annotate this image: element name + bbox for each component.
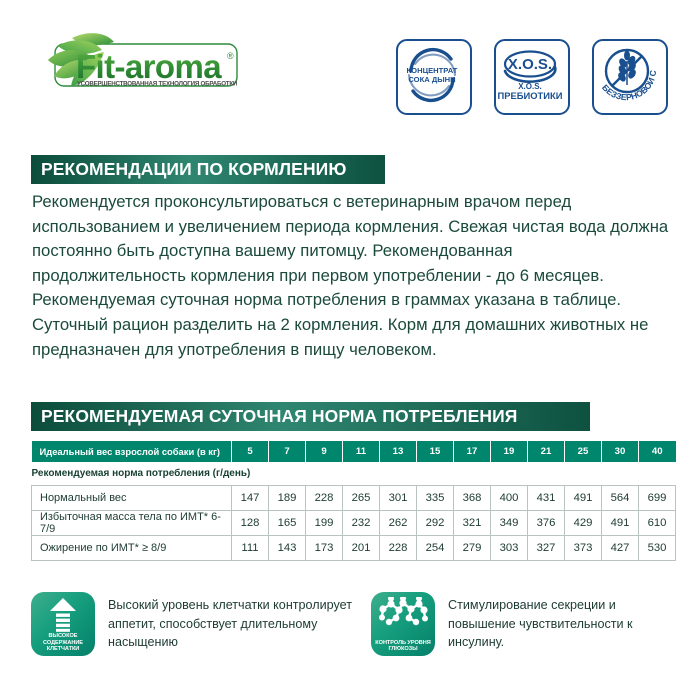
table-cell: 189	[269, 486, 306, 511]
table-header-weight: 19	[491, 441, 528, 462]
table-header-weight: 5	[232, 441, 269, 462]
table-cell: 491	[565, 486, 602, 511]
table-row: Нормальный вес14718922826530133536840043…	[32, 486, 676, 511]
table-cell: 165	[269, 511, 306, 536]
table-cell: 376	[528, 511, 565, 536]
table-header-weight: 21	[528, 441, 565, 462]
table-cell: 321	[454, 511, 491, 536]
daily-norm-table-wrapper: Идеальный вес взрослой собаки (в кг)5791…	[31, 441, 675, 561]
badge-grain-free: БЕЗЗЕРНОВОЙ СОСТАВ	[592, 39, 668, 115]
melon-juice-concentrate-icon: КОНЦЕНТРАТ СОКА ДЫНИ	[398, 41, 466, 109]
table-cell: 335	[417, 486, 454, 511]
feature-badges: КОНЦЕНТРАТ СОКА ДЫНИ X.O.S. X.O.S. ПРЕБИ…	[396, 39, 668, 115]
daily-norm-table: Идеальный вес взрослой собаки (в кг)5791…	[31, 441, 676, 561]
table-header-weight: 13	[380, 441, 417, 462]
logo-graphic: Fit-aroma ® УСОВЕРШЕНСТВОВАННАЯ ТЕХНОЛОГ…	[28, 26, 243, 102]
table-cell: 431	[528, 486, 565, 511]
feature-blocks: ВЫСОКОЕ СОДЕРЖАНИЕ КЛЕТЧАТКИ Высокий уро…	[31, 592, 679, 656]
table-header-label: Идеальный вес взрослой собаки (в кг)	[32, 441, 232, 462]
table-cell: 373	[565, 536, 602, 561]
badge-xos-prebiotics: X.O.S. X.O.S. ПРЕБИОТИКИ	[494, 39, 570, 115]
daily-norm-heading-text: РЕКОМЕНДУЕМАЯ СУТОЧНАЯ НОРМА ПОТРЕБЛЕНИЯ	[41, 408, 517, 426]
table-header-weight: 17	[454, 441, 491, 462]
caption-line-1: ВЫСОКОЕ	[33, 633, 93, 640]
caption-line-3: КЛЕТЧАТКИ	[33, 646, 93, 653]
badge-melon-juice-concentrate: КОНЦЕНТРАТ СОКА ДЫНИ	[396, 39, 472, 115]
table-cell: 491	[602, 511, 639, 536]
high-fiber-description: Высокий уровень клетчатки контролирует а…	[108, 592, 371, 652]
feeding-section-heading: РЕКОМЕНДАЦИИ ПО КОРМЛЕНИЮ	[31, 155, 385, 184]
svg-text:Fit-aroma: Fit-aroma	[76, 48, 222, 85]
table-caption-row: Рекомендуемая норма потребления (г/день)	[32, 462, 676, 486]
feeding-body-text: Рекомендуется проконсультироваться с вет…	[32, 190, 670, 362]
svg-text:СОКА ДЫНИ: СОКА ДЫНИ	[408, 75, 455, 84]
table-cell: 368	[454, 486, 491, 511]
table-cell: 262	[380, 511, 417, 536]
arrow-up-stack-glyph	[31, 597, 95, 633]
glucose-control-description: Стимулирование секреции и повышение чувс…	[448, 592, 679, 652]
table-cell: 400	[491, 486, 528, 511]
page-header: Fit-aroma ® УСОВЕРШЕНСТВОВАННАЯ ТЕХНОЛОГ…	[0, 0, 700, 128]
feeding-heading-text: РЕКОМЕНДАЦИИ ПО КОРМЛЕНИЮ	[41, 161, 347, 179]
xos-prebiotics-icon: X.O.S. X.O.S. ПРЕБИОТИКИ	[496, 41, 564, 109]
table-header-weight: 7	[269, 441, 306, 462]
table-caption: Рекомендуемая норма потребления (г/день)	[32, 462, 676, 486]
table-cell: 147	[232, 486, 269, 511]
table-cell: 292	[417, 511, 454, 536]
caption-line-1: КОНТРОЛЬ УРОВНЯ	[373, 640, 433, 647]
table-cell: 429	[565, 511, 602, 536]
svg-text:X.O.S.: X.O.S.	[508, 56, 552, 73]
table-row: Ожирение по ИМТ* ≥ 8/9111143173201228254…	[32, 536, 676, 561]
table-cell: 349	[491, 511, 528, 536]
svg-text:КОНЦЕНТРАТ: КОНЦЕНТРАТ	[407, 66, 458, 75]
table-cell: 301	[380, 486, 417, 511]
high-fiber-caption: ВЫСОКОЕ СОДЕРЖАНИЕ КЛЕТЧАТКИ	[31, 633, 95, 653]
table-header-weight: 9	[306, 441, 343, 462]
glucose-control-molecule-icon: КОНТРОЛЬ УРОВНЯ ГЛЮКОЗЫ	[371, 592, 435, 656]
table-header-weight: 11	[343, 441, 380, 462]
table-header-weight: 25	[565, 441, 602, 462]
table-cell: 199	[306, 511, 343, 536]
table-row: Избыточная масса тела по ИМТ* 6-7/912816…	[32, 511, 676, 536]
table-row-label: Ожирение по ИМТ* ≥ 8/9	[32, 536, 232, 561]
table-cell: 530	[639, 536, 676, 561]
table-cell: 111	[232, 536, 269, 561]
brand-logo: Fit-aroma ® УСОВЕРШЕНСТВОВАННАЯ ТЕХНОЛОГ…	[28, 26, 243, 102]
brand-tagline: УСОВЕРШЕНСТВОВАННАЯ ТЕХНОЛОГИЯ ОБРАБОТКИ	[77, 81, 238, 88]
caption-line-2: СОДЕРЖАНИЕ	[33, 640, 93, 647]
svg-text:®: ®	[227, 51, 234, 61]
svg-text:ПРЕБИОТИКИ: ПРЕБИОТИКИ	[498, 90, 563, 101]
table-cell: 128	[232, 511, 269, 536]
glucose-control-caption: КОНТРОЛЬ УРОВНЯ ГЛЮКОЗЫ	[371, 640, 435, 653]
table-cell: 265	[343, 486, 380, 511]
table-row-label: Нормальный вес	[32, 486, 232, 511]
table-cell: 173	[306, 536, 343, 561]
table-cell: 564	[602, 486, 639, 511]
table-header-weight: 30	[602, 441, 639, 462]
table-header-weight: 15	[417, 441, 454, 462]
table-cell: 699	[639, 486, 676, 511]
table-header-weight: 40	[639, 441, 676, 462]
table-cell: 327	[528, 536, 565, 561]
table-cell: 279	[454, 536, 491, 561]
table-cell: 427	[602, 536, 639, 561]
grain-free-icon: БЕЗЗЕРНОВОЙ СОСТАВ	[594, 41, 662, 109]
table-row-label: Избыточная масса тела по ИМТ* 6-7/9	[32, 511, 232, 536]
table-cell: 303	[491, 536, 528, 561]
table-cell: 228	[306, 486, 343, 511]
table-cell: 228	[380, 536, 417, 561]
table-cell: 610	[639, 511, 676, 536]
table-cell: 143	[269, 536, 306, 561]
table-cell: 201	[343, 536, 380, 561]
high-fiber-arrow-icon: ВЫСОКОЕ СОДЕРЖАНИЕ КЛЕТЧАТКИ	[31, 592, 95, 656]
caption-line-2: ГЛЮКОЗЫ	[373, 646, 433, 653]
feature-high-fiber: ВЫСОКОЕ СОДЕРЖАНИЕ КЛЕТЧАТКИ Высокий уро…	[31, 592, 371, 656]
molecule-glyph	[371, 597, 435, 633]
table-cell: 232	[343, 511, 380, 536]
daily-norm-section-heading: РЕКОМЕНДУЕМАЯ СУТОЧНАЯ НОРМА ПОТРЕБЛЕНИЯ	[31, 402, 590, 431]
table-cell: 254	[417, 536, 454, 561]
feature-glucose-control: КОНТРОЛЬ УРОВНЯ ГЛЮКОЗЫ Стимулирование с…	[371, 592, 679, 656]
table-header-row: Идеальный вес взрослой собаки (в кг)5791…	[32, 441, 676, 462]
